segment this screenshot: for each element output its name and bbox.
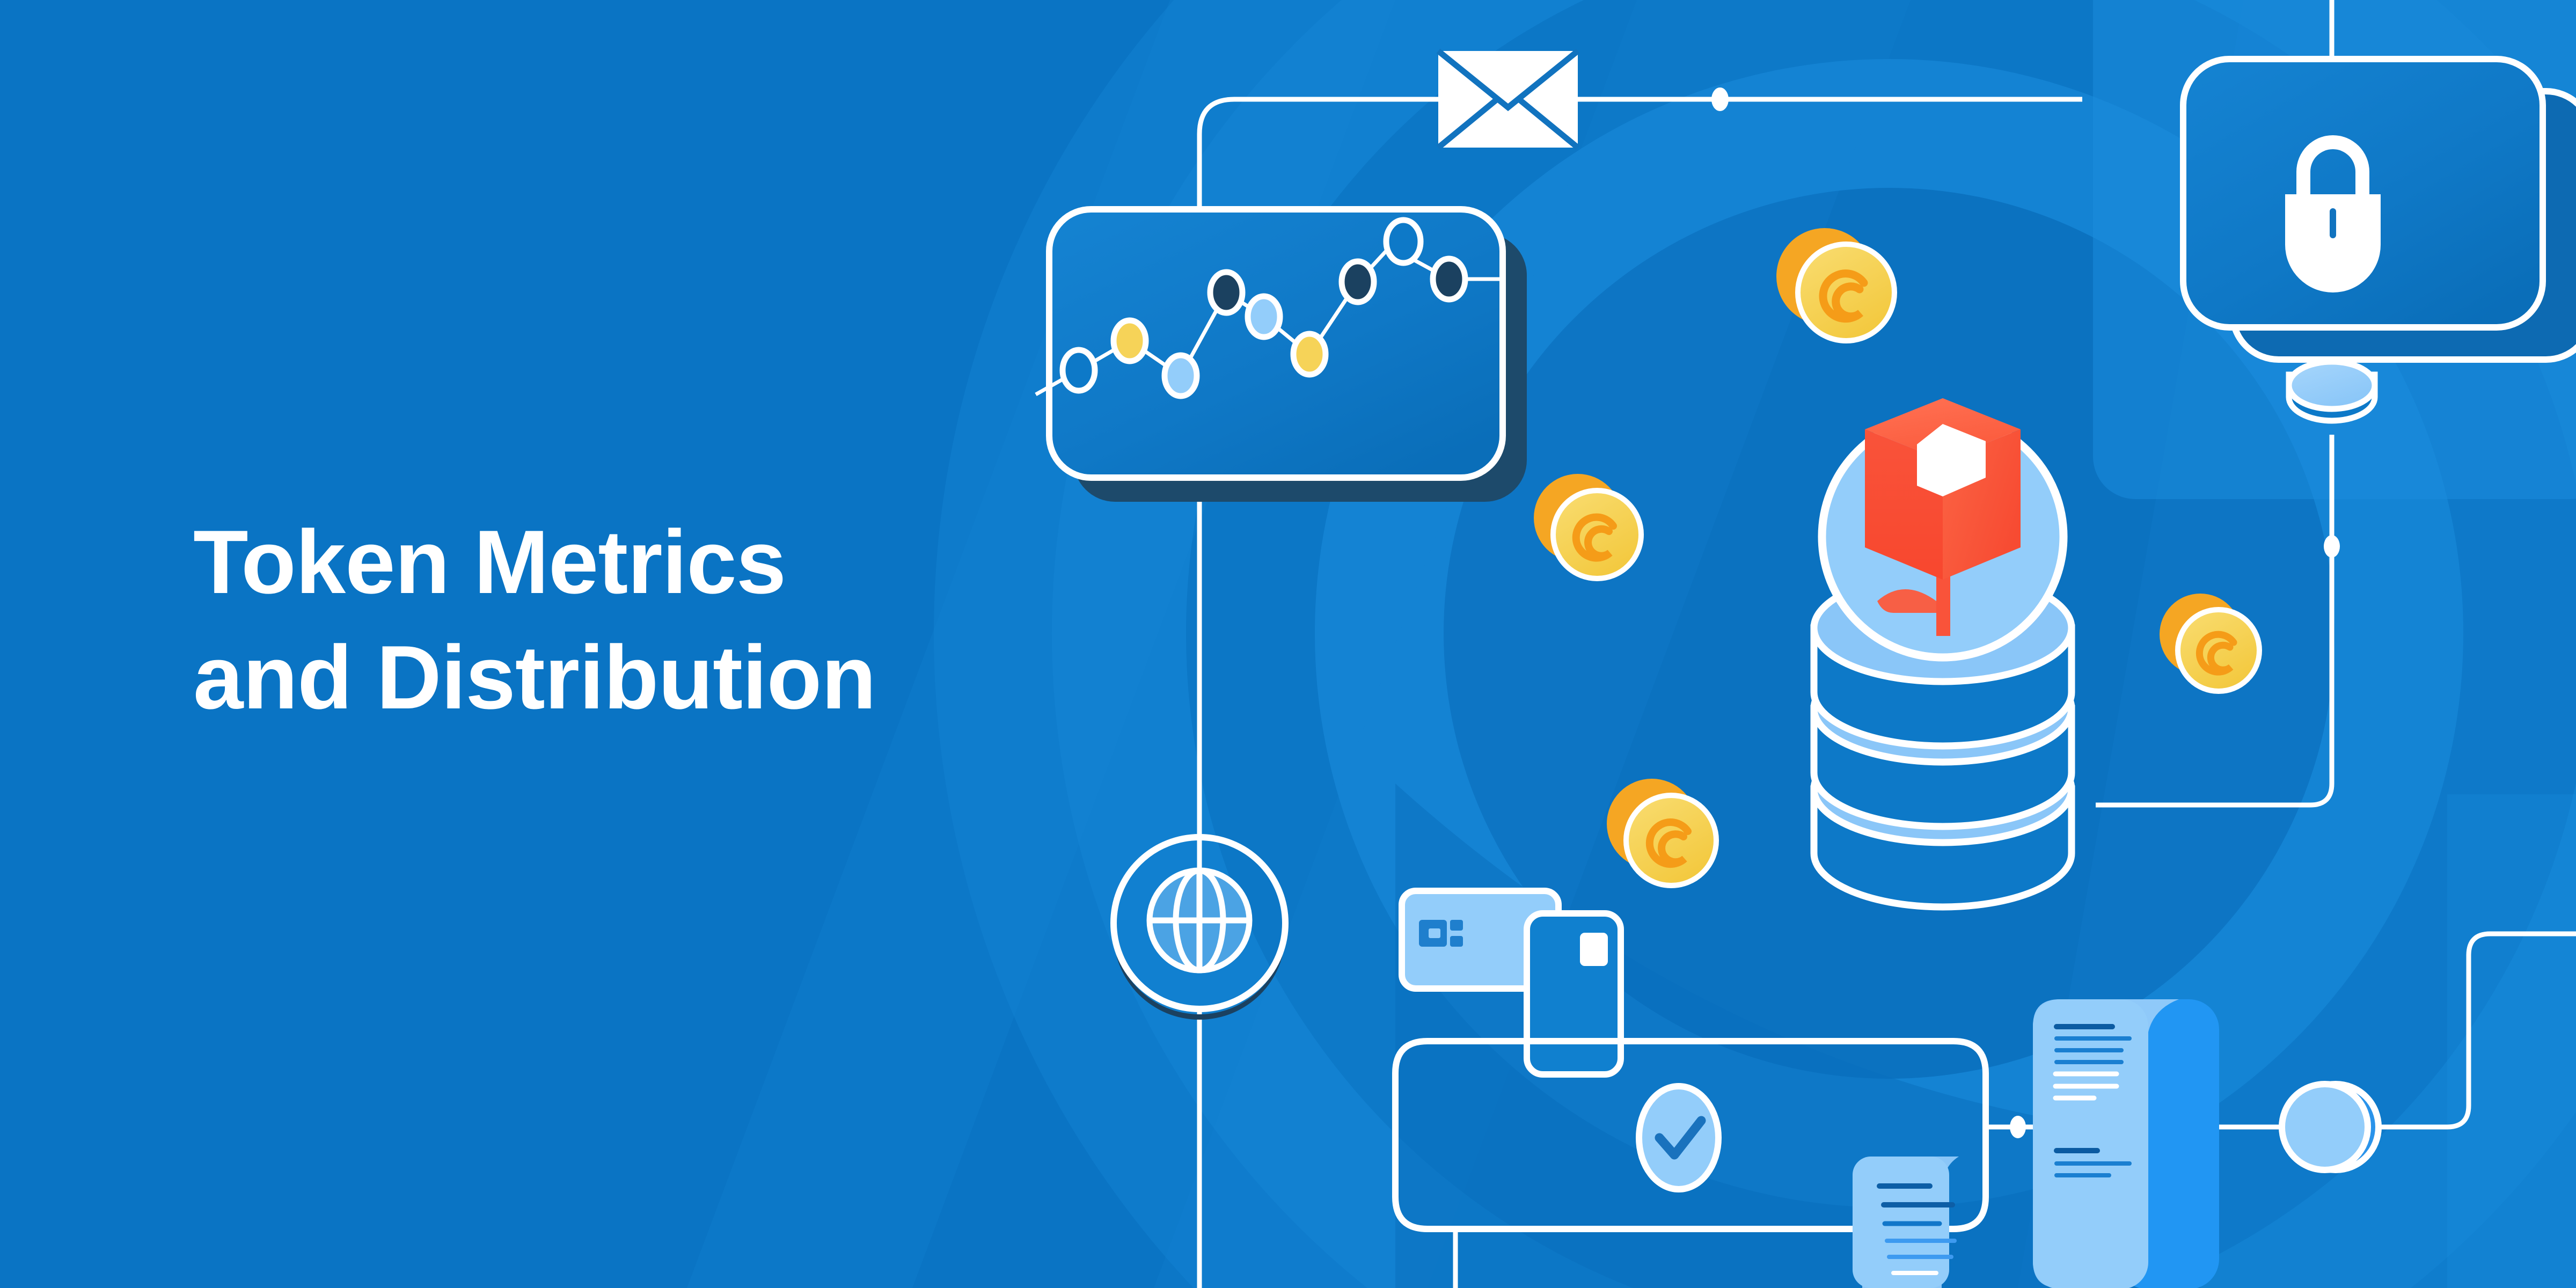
hero-banner: Token Metrics and Distribution xyxy=(0,0,2576,1288)
page-title: Token Metrics and Distribution xyxy=(193,504,1213,735)
